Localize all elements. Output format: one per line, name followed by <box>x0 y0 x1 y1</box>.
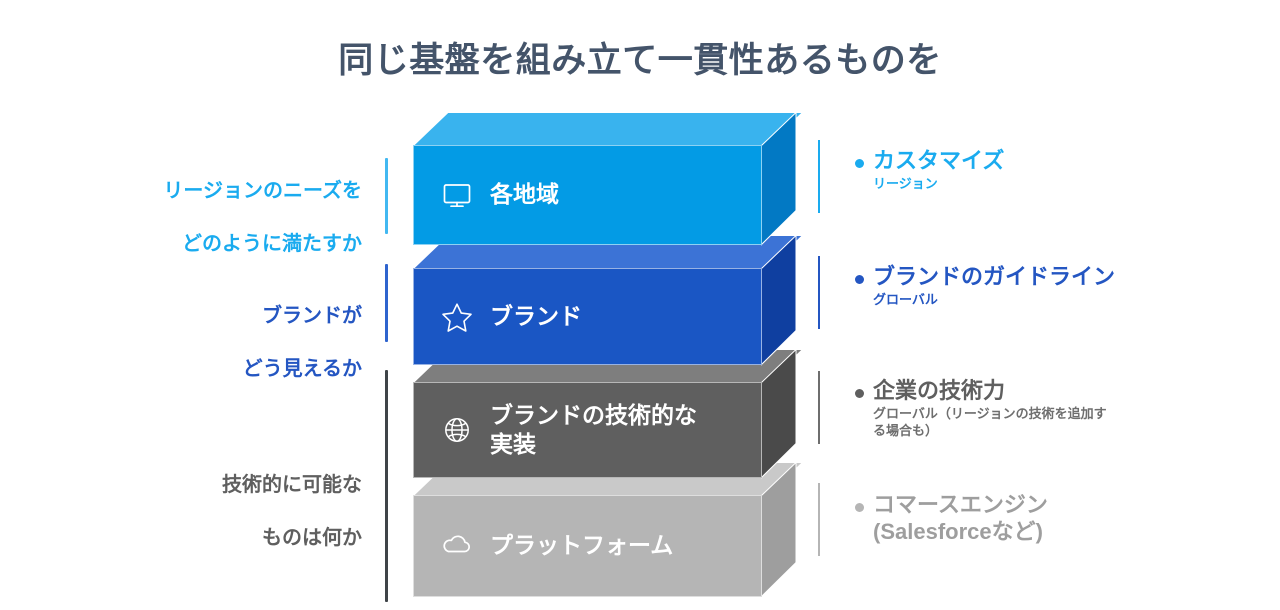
annotation-brand-guideline-text: ブランドのガイドライン グローバル <box>873 264 1115 309</box>
block-tech-front-face: ブランドの技術的な 実装 <box>413 382 762 478</box>
block-tech-label: ブランドの技術的な 実装 <box>490 401 697 460</box>
annotation-enterprise-capability-headline: 企業の技術力 <box>873 378 1005 403</box>
left-label-tech: 技術的に可能な ものは何か <box>80 446 362 578</box>
block-region-side-face <box>761 112 803 246</box>
left-label-region-line2: どのように満たすか <box>80 231 362 257</box>
annotation-brand-guideline-headline: ブランドのガイドライン <box>873 264 1115 289</box>
block-platform-front-face: プラットフォーム <box>413 495 762 597</box>
right-divider-customize <box>818 140 820 213</box>
block-tech-side-face <box>761 349 803 479</box>
annotation-commerce-engine: コマースエンジン (Salesforceなど) <box>855 492 1048 546</box>
block-brand-front-face: ブランド <box>413 268 762 365</box>
annotation-customize: カスタマイズ リージョン <box>855 148 1004 193</box>
block-region-label: 各地域 <box>490 180 559 209</box>
bullet-dot-icon <box>855 389 864 398</box>
left-label-tech-line2: ものは何か <box>80 525 362 551</box>
block-brand-content: ブランド <box>414 300 582 334</box>
block-platform-label: プラットフォーム <box>490 531 673 560</box>
annotation-enterprise-capability: 企業の技術力 グローバル（リージョンの技術を追加する場合も） <box>855 378 1118 440</box>
annotation-brand-guideline-sub: グローバル <box>873 292 1115 309</box>
annotation-enterprise-capability-text: 企業の技術力 グローバル（リージョンの技術を追加する場合も） <box>873 378 1118 440</box>
left-divider-region <box>385 158 388 234</box>
block-tech-implementation[interactable]: ブランドの技術的な 実装 <box>413 349 803 479</box>
block-brand-label: ブランド <box>490 302 582 331</box>
star-icon <box>440 300 474 334</box>
block-tech-content: ブランドの技術的な 実装 <box>414 401 697 460</box>
annotation-customize-text: カスタマイズ リージョン <box>873 148 1004 193</box>
bullet-dot-icon <box>855 275 864 284</box>
block-platform-content: プラットフォーム <box>414 529 673 563</box>
diagram-canvas: 同じ基盤を組み立て一貫性あるものを リージョンのニーズを どのように満たすか ブ… <box>0 0 1280 610</box>
globe-icon <box>440 413 474 447</box>
block-region-content: 各地域 <box>414 178 559 212</box>
annotation-brand-guideline: ブランドのガイドライン グローバル <box>855 264 1115 309</box>
block-platform[interactable]: プラットフォーム <box>413 462 803 597</box>
block-platform-side-face <box>761 462 803 597</box>
block-brand[interactable]: ブランド <box>413 235 803 366</box>
left-label-tech-line1: 技術的に可能な <box>80 472 362 498</box>
annotation-commerce-engine-headline: コマースエンジン (Salesforceなど) <box>873 492 1048 544</box>
left-divider-tech <box>385 370 388 602</box>
page-title: 同じ基盤を組み立て一貫性あるものを <box>0 32 1280 83</box>
cloud-icon <box>440 529 474 563</box>
block-region-front-face: 各地域 <box>413 145 762 245</box>
block-region[interactable]: 各地域 <box>413 112 803 246</box>
monitor-icon <box>440 178 474 212</box>
annotation-customize-sub: リージョン <box>873 176 1004 193</box>
left-label-brand-line2: どう見えるか <box>80 356 362 382</box>
left-divider-brand <box>385 264 388 342</box>
annotation-customize-headline: カスタマイズ <box>873 148 1004 173</box>
left-label-region: リージョンのニーズを どのように満たすか <box>80 152 362 284</box>
right-divider-guideline <box>818 256 820 329</box>
block-region-top-face <box>413 112 803 146</box>
annotation-commerce-engine-text: コマースエンジン (Salesforceなど) <box>873 492 1048 546</box>
right-divider-commerce <box>818 483 820 556</box>
bullet-dot-icon <box>855 159 864 168</box>
bullet-dot-icon <box>855 503 864 512</box>
right-divider-capability <box>818 371 820 444</box>
left-label-region-line1: リージョンのニーズを <box>80 178 362 204</box>
annotation-enterprise-capability-sub: グローバル（リージョンの技術を追加する場合も） <box>873 406 1118 440</box>
left-label-brand: ブランドが どう見えるか <box>80 277 362 409</box>
block-brand-side-face <box>761 235 803 366</box>
left-label-brand-line1: ブランドが <box>80 303 362 329</box>
